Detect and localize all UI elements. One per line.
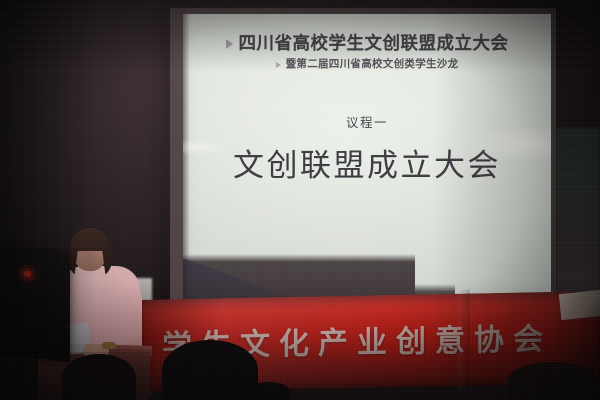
- audience-head-silhouette: [162, 340, 258, 400]
- speaker-wristband: [102, 342, 116, 349]
- photo-scene: 四川省高校学生文创联盟成立大会 暨第二届四川省高校文创类学生沙龙 议程一 文创联…: [0, 0, 600, 400]
- power-led-icon: [24, 270, 31, 277]
- slide-title: 四川省高校学生文创联盟成立大会: [239, 30, 509, 55]
- banner-corner-flap: [559, 290, 600, 320]
- speaker-face-shadow: [76, 250, 104, 272]
- audience-head-silhouette: [508, 362, 596, 400]
- triangle-bullet-icon: [226, 39, 233, 49]
- slide-title-row: 四川省高校学生文创联盟成立大会: [183, 30, 551, 55]
- audience-head-silhouette: [248, 382, 290, 400]
- laptop: [2, 245, 70, 363]
- projection-screen: 四川省高校学生文创联盟成立大会 暨第二届四川省高校文创类学生沙龙 议程一 文创联…: [183, 14, 551, 310]
- audience-head-silhouette: [62, 354, 136, 400]
- presentation-slide: 四川省高校学生文创联盟成立大会 暨第二届四川省高校文创类学生沙龙 议程一 文创联…: [183, 14, 551, 310]
- screen-shadow-left-edge: [183, 14, 190, 310]
- agenda-label: 议程一: [183, 112, 551, 131]
- panel-seam-upper: [556, 186, 600, 187]
- agenda-heading: 文创联盟成立大会: [183, 140, 551, 185]
- triangle-bullet-icon-small: [276, 62, 281, 68]
- slide-subtitle: 暨第二届四川省高校文创类学生沙龙: [286, 56, 459, 71]
- slide-subtitle-row: 暨第二届四川省高校文创类学生沙龙: [183, 56, 551, 71]
- right-wall-panel: [556, 128, 600, 318]
- panel-seam-lower: [556, 242, 600, 243]
